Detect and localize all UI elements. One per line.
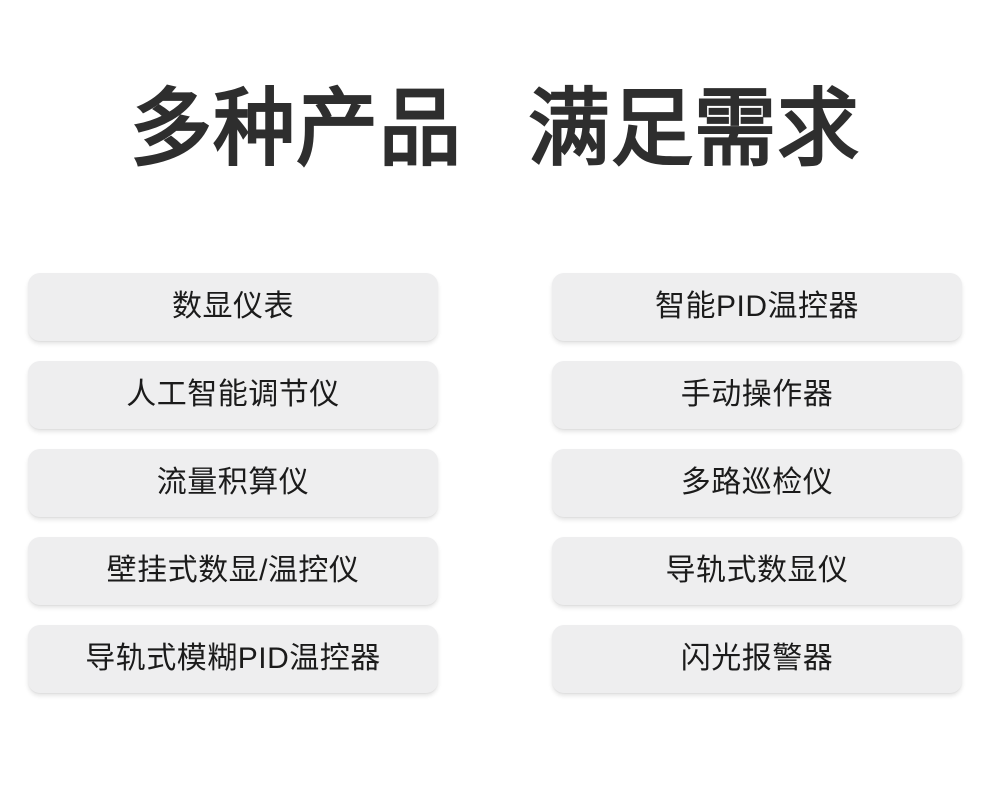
product-card-label: 人工智能调节仪	[126, 378, 340, 412]
product-card[interactable]: 数显仪表	[28, 273, 438, 341]
product-card-label: 流量积算仪	[157, 466, 310, 500]
product-card[interactable]: 多路巡检仪	[552, 449, 962, 517]
product-card-label: 数显仪表	[172, 290, 294, 324]
product-card-label: 手动操作器	[681, 378, 834, 412]
product-card-label: 多路巡检仪	[681, 466, 834, 500]
product-card[interactable]: 壁挂式数显/温控仪	[28, 537, 438, 605]
product-card-label: 导轨式模糊PID温控器	[85, 642, 381, 676]
product-card[interactable]: 人工智能调节仪	[28, 361, 438, 429]
right-column: 智能PID温控器 手动操作器 多路巡检仪 导轨式数显仪 闪光报警器	[552, 273, 962, 693]
product-card-label: 闪光报警器	[681, 642, 834, 676]
product-card[interactable]: 闪光报警器	[552, 625, 962, 693]
product-card-grid: 数显仪表 人工智能调节仪 流量积算仪 壁挂式数显/温控仪 导轨式模糊PID温控器…	[28, 273, 962, 693]
product-card-label: 智能PID温控器	[655, 290, 859, 324]
product-card-label: 壁挂式数显/温控仪	[107, 554, 360, 588]
heading-segment-2: 满足需求	[528, 78, 860, 182]
page-title: 多种产品满足需求	[0, 78, 990, 178]
left-column: 数显仪表 人工智能调节仪 流量积算仪 壁挂式数显/温控仪 导轨式模糊PID温控器	[28, 273, 438, 693]
heading-text: 多种产品满足需求	[130, 78, 860, 182]
product-category-banner: 多种产品满足需求 数显仪表 人工智能调节仪 流量积算仪 壁挂式数显/温控仪 导轨…	[0, 0, 990, 785]
product-card-label: 导轨式数显仪	[666, 554, 849, 588]
heading-segment-1: 多种产品	[130, 78, 462, 182]
product-card[interactable]: 智能PID温控器	[552, 273, 962, 341]
product-card[interactable]: 流量积算仪	[28, 449, 438, 517]
product-card[interactable]: 手动操作器	[552, 361, 962, 429]
product-card[interactable]: 导轨式数显仪	[552, 537, 962, 605]
product-card[interactable]: 导轨式模糊PID温控器	[28, 625, 438, 693]
